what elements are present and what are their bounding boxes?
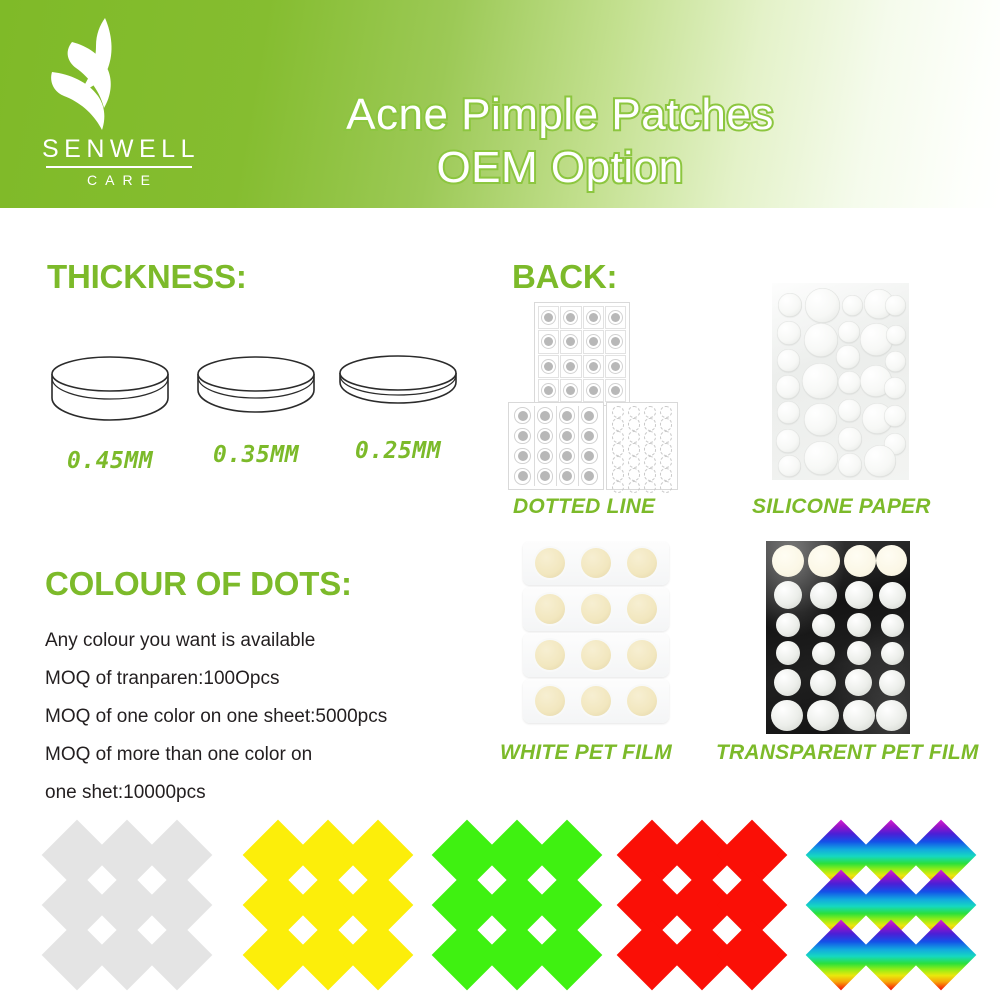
disc-thick-icon bbox=[46, 352, 174, 426]
page-header: SENWELL CARE Acne Pimple Patches OEM Opt… bbox=[0, 0, 1000, 208]
figure-caption-white-pet-film: WHITE PET FILM bbox=[500, 741, 672, 765]
thickness-item-1: 0.35MM bbox=[186, 352, 326, 468]
figure-caption-silicone-paper: SILICONE PAPER bbox=[752, 495, 931, 519]
disc-medium-icon bbox=[192, 352, 320, 416]
thickness-item-0: 0.45MM bbox=[40, 352, 180, 474]
thickness-label-2: 0.25MM bbox=[328, 438, 468, 464]
swatch-rainbow bbox=[806, 820, 956, 970]
colour-text-line-0: Any colour you want is available bbox=[45, 622, 485, 660]
figure-dotted-line bbox=[508, 302, 698, 490]
colour-text-line-4: one shet:10000pcs bbox=[45, 774, 485, 812]
thickness-disc-row: 0.45MM 0.35MM 0.25MM bbox=[40, 352, 480, 492]
brand-logo: SENWELL CARE bbox=[34, 16, 204, 196]
colour-text-line-3: MOQ of more than one color on bbox=[45, 736, 485, 774]
page-title-line-1: Acne Pimple Patches bbox=[250, 88, 870, 141]
colour-text-line-2: MOQ of one color on one sheet:5000pcs bbox=[45, 698, 485, 736]
thickness-item-2: 0.25MM bbox=[328, 352, 468, 464]
figure-white-pet-film bbox=[521, 541, 672, 727]
page-title: Acne Pimple Patches OEM Option bbox=[250, 88, 870, 194]
logo-divider bbox=[46, 166, 192, 168]
figure-caption-transparent-pet-film: TRANSPARENT PET FILM bbox=[716, 741, 979, 765]
thickness-label-0: 0.45MM bbox=[40, 448, 180, 474]
figure-silicone-paper bbox=[772, 283, 909, 480]
leaf-flame-logo-icon bbox=[42, 16, 162, 136]
page-title-line-2: OEM Option bbox=[250, 141, 870, 194]
swatch-green bbox=[432, 820, 582, 970]
dotted-line-sheet-bottom-right bbox=[606, 402, 678, 490]
section-heading-colour-of-dots: COLOUR OF DOTS: bbox=[45, 565, 352, 603]
swatch-transparent-grey bbox=[42, 820, 192, 970]
figure-caption-dotted-line: DOTTED LINE bbox=[513, 495, 655, 519]
dotted-line-sheet-top bbox=[534, 302, 630, 406]
disc-thin-icon bbox=[334, 352, 462, 408]
thickness-label-1: 0.35MM bbox=[186, 442, 326, 468]
logo-brand-text: SENWELL bbox=[34, 134, 204, 164]
swatch-red bbox=[617, 820, 767, 970]
colour-of-dots-text: Any colour you want is available MOQ of … bbox=[45, 622, 485, 812]
colour-text-line-1: MOQ of tranparen:100Opcs bbox=[45, 660, 485, 698]
section-heading-back: BACK: bbox=[512, 258, 617, 296]
swatch-yellow bbox=[243, 820, 393, 970]
silicone-paper-sheet bbox=[772, 283, 909, 480]
logo-sub-text: CARE bbox=[34, 171, 204, 189]
transparent-pet-sheet bbox=[766, 541, 910, 734]
figure-transparent-pet-film bbox=[766, 541, 910, 734]
dotted-line-sheet-bottom-left bbox=[508, 402, 604, 490]
section-heading-thickness: THICKNESS: bbox=[47, 258, 247, 296]
colour-swatch-row bbox=[0, 812, 1000, 984]
